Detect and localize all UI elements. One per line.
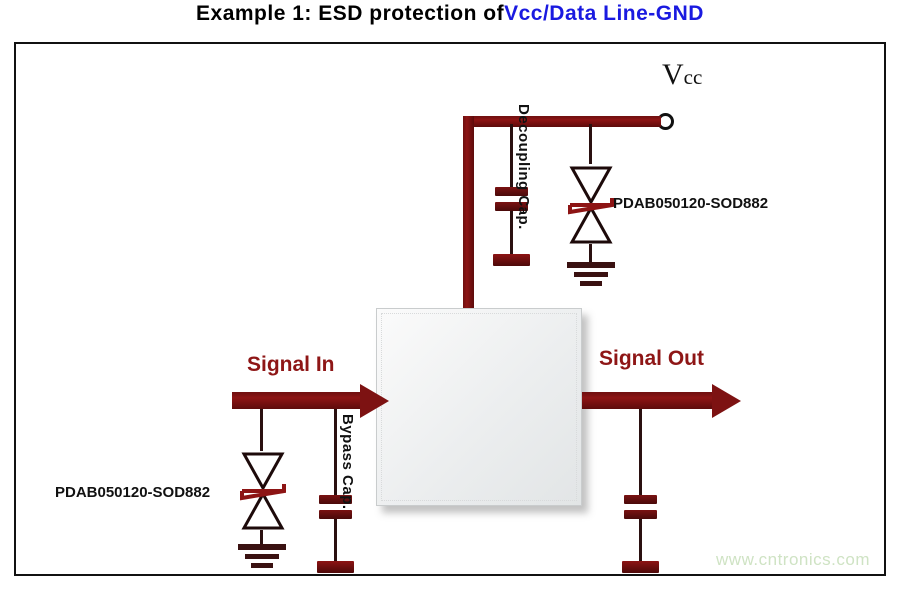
output-cap-ground-pad	[622, 561, 659, 573]
vcc-drop-wire	[463, 116, 474, 319]
bypass-cap-bottom-wire	[334, 519, 337, 561]
tvs-top-part-label: PDAB050120-SOD882	[613, 195, 768, 212]
decoupling-cap-bottom-wire	[510, 211, 513, 254]
tvs-left-ground-bar-2	[245, 554, 279, 559]
decoupling-cap-ground-pad	[493, 254, 530, 266]
tvs-top-ground-bar-1	[567, 262, 615, 268]
signal-out-wire	[582, 392, 717, 409]
bypass-cap-plate-bottom	[319, 510, 352, 519]
signal-out-arrowhead-icon	[712, 379, 742, 423]
output-cap-top-wire	[639, 409, 642, 495]
signal-in-label: Signal In	[247, 353, 335, 377]
decoupling-cap-label: Decoupling Cap.	[515, 104, 532, 230]
signal-in-arrowhead-icon	[360, 379, 390, 423]
tvs-top-ground-bar-2	[574, 272, 608, 277]
vcc-label: Vcc	[662, 58, 702, 92]
bypass-cap-ground-pad	[317, 561, 354, 573]
output-cap-plate-top	[624, 495, 657, 504]
vcc-rail-wire	[463, 116, 661, 127]
output-cap-plate-bottom	[624, 510, 657, 519]
tvs-diode-left-icon	[232, 448, 294, 538]
ic-block	[376, 308, 582, 506]
vcc-label-sub: cc	[684, 65, 703, 89]
signal-in-wire	[232, 392, 366, 409]
tvs-top-ground-bar-3	[580, 281, 602, 286]
page-title-black-text: Example 1: ESD protection of	[196, 2, 504, 25]
page-title-blue-text: Vcc/Data Line-GND	[504, 2, 704, 25]
decoupling-cap-top-wire	[510, 124, 513, 187]
tvs-left-lead-wire	[260, 409, 263, 451]
signal-out-label: Signal Out	[599, 347, 704, 371]
output-cap-bottom-wire	[639, 519, 642, 561]
bypass-cap-label: Bypass Cap.	[339, 414, 356, 510]
circuit-diagram: Vcc Decoupling Cap. PDAB050120-SOD882 Si…	[14, 42, 886, 576]
vcc-label-main: V	[662, 58, 684, 91]
tvs-top-lead-wire	[589, 124, 592, 164]
page-title: Example 1: ESD protection ofVcc/Data Lin…	[0, 2, 900, 34]
tvs-left-ground-bar-1	[238, 544, 286, 550]
tvs-left-part-label: PDAB050120-SOD882	[55, 484, 210, 501]
tvs-left-ground-bar-3	[251, 563, 273, 568]
site-watermark: www.cntronics.com	[716, 550, 870, 570]
bypass-cap-top-wire	[334, 409, 337, 495]
